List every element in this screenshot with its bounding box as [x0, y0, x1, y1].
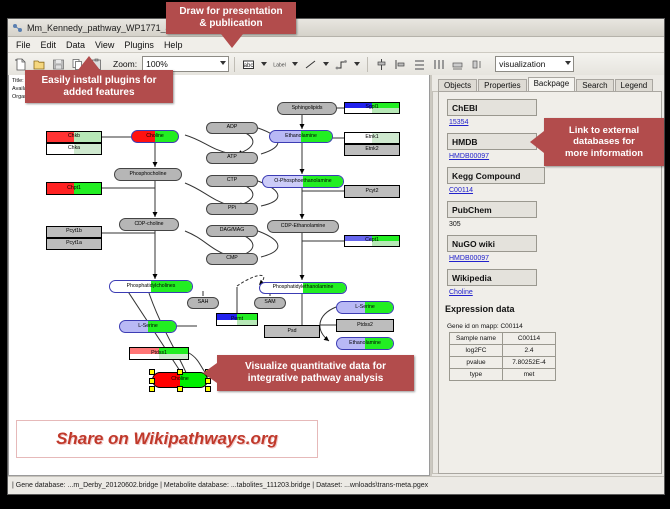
line-icon[interactable]: [302, 56, 319, 73]
node-pcyt2[interactable]: Pcyt2: [344, 185, 400, 198]
table-row: pvalue 7.80252E-4: [450, 357, 556, 369]
tab-objects[interactable]: Objects: [438, 79, 477, 91]
node-l-serine-right[interactable]: L-Serine: [336, 301, 394, 314]
node-cdp-choline[interactable]: CDP-choline: [119, 218, 179, 231]
node-ethanolamine[interactable]: Ethanolamine: [269, 130, 333, 143]
selection-handle-w[interactable]: [149, 378, 155, 384]
expr-value-pvalue: 7.80252E-4: [503, 357, 556, 369]
menu-item-view[interactable]: View: [90, 39, 119, 51]
label-text-icon[interactable]: Label: [271, 56, 288, 73]
selection-handle-n[interactable]: [177, 369, 183, 375]
node-dag-mag[interactable]: DAG/MAG: [206, 225, 258, 237]
distribute-horizontal-icon[interactable]: [430, 56, 447, 73]
expr-label-type: type: [450, 369, 503, 381]
align-left-icon[interactable]: [392, 56, 409, 73]
node-choline-top[interactable]: Choline: [131, 130, 179, 143]
node-chka[interactable]: Chka: [46, 143, 102, 155]
gene-id-on-mapp: Gene id on mapp: C00114: [447, 323, 661, 330]
node-etnk1[interactable]: Etnk1: [344, 132, 400, 144]
node-sphingolipids[interactable]: Sphingolipids: [277, 102, 337, 115]
table-row: Sample name C00114: [450, 333, 556, 345]
node-sgpl1[interactable]: Sgpl1: [344, 102, 400, 114]
toolbar-separator-2: [367, 57, 368, 72]
label-dropdown2-icon[interactable]: [292, 62, 298, 66]
callout-links-arrow-icon: [530, 131, 544, 153]
node-pemt[interactable]: Pemt: [216, 313, 258, 326]
callout-visualize-data: Visualize quantitative data for integrat…: [217, 355, 414, 391]
same-width-icon[interactable]: [449, 56, 466, 73]
tab-legend[interactable]: Legend: [615, 79, 654, 91]
tab-search[interactable]: Search: [576, 79, 613, 91]
menu-item-help[interactable]: Help: [159, 39, 188, 51]
db-header-chebi: ChEBI: [447, 99, 537, 116]
db-value-pubchem: 305: [449, 221, 661, 228]
expr-value-log2fc: 2.4: [503, 345, 556, 357]
node-phosphocholine[interactable]: Phosphocholine: [114, 168, 182, 181]
selection-handle-sw[interactable]: [149, 386, 155, 392]
node-ppi[interactable]: PPi: [206, 203, 258, 215]
node-ethanolamine-bottom[interactable]: Ethanolamine: [336, 337, 394, 350]
node-sah[interactable]: SAH: [187, 297, 219, 309]
db-link-kegg[interactable]: C00114: [449, 187, 661, 194]
menu-bar: File Edit Data View Plugins Help: [8, 37, 664, 53]
callout-share-wikipathways: Share on Wikipathways.org: [16, 420, 318, 458]
callout-draw-arrow-icon: [221, 34, 243, 48]
text-label-icon[interactable]: abc: [240, 56, 257, 73]
db-header-pubchem: PubChem: [447, 201, 537, 218]
zoom-label: Zoom:: [113, 59, 137, 69]
node-o-phosphoethanolamine[interactable]: O-Phosphoethanolamine: [262, 175, 344, 188]
table-row: log2FC 2.4: [450, 345, 556, 357]
db-header-wikipedia: Wikipedia: [447, 269, 537, 286]
node-pcyt1a[interactable]: Pcyt1a: [46, 238, 102, 250]
node-adp[interactable]: ADP: [206, 122, 258, 134]
chevron-down-icon-2: [565, 61, 571, 65]
db-header-nugo: NuGO wiki: [447, 235, 537, 252]
selection-handle-se[interactable]: [205, 386, 211, 392]
svg-text:abc: abc: [244, 63, 254, 69]
menu-item-file[interactable]: File: [11, 39, 36, 51]
db-header-kegg: Kegg Compound: [447, 167, 545, 184]
menu-item-edit[interactable]: Edit: [36, 39, 62, 51]
selection-handle-nw[interactable]: [149, 369, 155, 375]
db-header-hmdb: HMDB: [447, 133, 537, 150]
expr-value-type: met: [503, 369, 556, 381]
visualization-value: visualization: [499, 59, 545, 69]
node-atp[interactable]: ATP: [206, 152, 258, 164]
side-pane-tabs: Objects Properties Backpage Search Legen…: [438, 77, 662, 91]
callout-visualize-arrow-icon: [203, 363, 217, 383]
expr-value-sample: C00114: [503, 333, 556, 345]
selection-handle-s[interactable]: [177, 386, 183, 392]
callout-plugins-arrow-icon: [78, 56, 100, 70]
line-dropdown-icon[interactable]: [323, 62, 329, 66]
title-bar: Mm_Kennedy_pathway_WP1771_45176.gpml: [8, 19, 664, 37]
node-ptdss1[interactable]: Ptdss1: [129, 347, 189, 360]
expression-data-heading: Expression data: [445, 304, 661, 314]
status-text: | Gene database: ...m_Derby_20120602.bri…: [12, 482, 428, 489]
node-phosphatidylethanolamine[interactable]: Phosphatidylethanolamine: [259, 282, 347, 294]
node-phosphatidylcholines[interactable]: Phosphatidylcholines: [109, 280, 193, 293]
menu-item-plugins[interactable]: Plugins: [119, 39, 159, 51]
expr-label-log2fc: log2FC: [450, 345, 503, 357]
node-l-serine-left[interactable]: L-Serine: [119, 320, 177, 333]
svg-text:Label: Label: [273, 62, 285, 68]
node-psd[interactable]: Psd: [264, 325, 320, 338]
node-cmp[interactable]: CMP: [206, 253, 258, 265]
screenshot-root: Mm_Kennedy_pathway_WP1771_45176.gpml Fil…: [0, 0, 670, 509]
expr-label-sample: Sample name: [450, 333, 503, 345]
zoom-value: 100%: [146, 59, 168, 69]
db-link-wikipedia[interactable]: Choline: [449, 289, 661, 296]
node-ctp[interactable]: CTP: [206, 175, 258, 187]
pathway-canvas[interactable]: Title: Availa Organ: [8, 75, 430, 476]
expr-label-pvalue: pvalue: [450, 357, 503, 369]
tab-properties[interactable]: Properties: [478, 79, 526, 91]
node-sam[interactable]: SAM: [254, 297, 286, 309]
callout-draw-for-presentation: Draw for presentation & publication: [166, 2, 296, 34]
node-cept1[interactable]: Cept1: [344, 235, 400, 247]
visualization-combo[interactable]: visualization: [495, 56, 574, 72]
callout-external-links: Link to external databases for more info…: [544, 118, 664, 166]
toolbar-separator: [234, 57, 235, 72]
node-chkb[interactable]: Chkb: [46, 131, 102, 143]
callout-install-plugins: Easily install plugins for added feature…: [25, 70, 173, 103]
node-cdp-ethanolamine[interactable]: CDP-Ethanolamine: [267, 220, 339, 233]
db-link-nugo[interactable]: HMDB00097: [449, 255, 661, 262]
node-chpt1[interactable]: Chpt1: [46, 182, 102, 195]
expression-table: Sample name C00114 log2FC 2.4 pvalue 7.8…: [449, 332, 556, 381]
status-bar: | Gene database: ...m_Derby_20120602.bri…: [8, 476, 664, 494]
node-ptdss2[interactable]: Ptdss2: [336, 319, 394, 332]
node-pcyt1b[interactable]: Pcyt1b: [46, 226, 102, 238]
tab-backpage[interactable]: Backpage: [528, 77, 576, 91]
table-row: type met: [450, 369, 556, 381]
align-center-icon[interactable]: [373, 56, 390, 73]
menu-item-data[interactable]: Data: [61, 39, 90, 51]
node-etnk2[interactable]: Etnk2: [344, 144, 400, 156]
share-wikipathways-text: Share on Wikipathways.org: [56, 429, 278, 449]
label-dropdown-icon[interactable]: [261, 62, 267, 66]
distribute-vertical-icon[interactable]: [411, 56, 428, 73]
connector-dropdown-icon[interactable]: [354, 62, 360, 66]
same-height-icon[interactable]: [468, 56, 485, 73]
pathvisio-icon: [12, 22, 23, 33]
chevron-down-icon: [220, 61, 226, 65]
connector-icon[interactable]: [333, 56, 350, 73]
